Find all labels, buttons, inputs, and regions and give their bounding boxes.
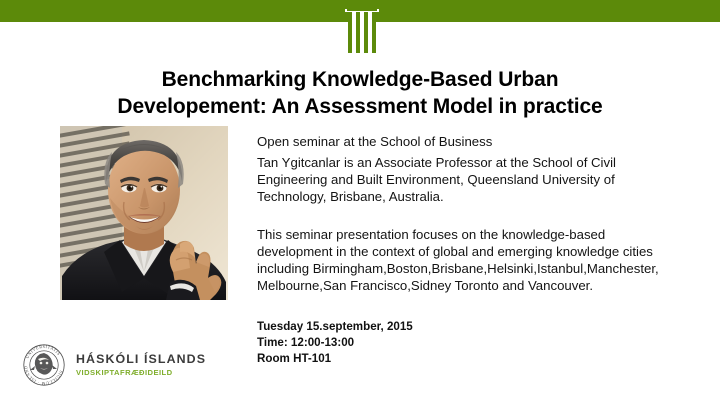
column-shaft-4 — [372, 12, 376, 53]
column-icon-right-edge — [376, 12, 379, 22]
speaker-portrait — [60, 126, 228, 300]
column-icon-shafts — [348, 12, 376, 53]
column-icon-abacus — [347, 9, 377, 11]
seminar-body-text: Open seminar at the School of Business T… — [257, 133, 669, 294]
university-department: VIDSKIPTAFRÆÐIDEILD — [76, 367, 226, 378]
university-name: HÁSKÓLI ÍSLANDS — [76, 352, 226, 367]
seminar-logistics: Tuesday 15.september, 2015 Time: 12:00-1… — [257, 319, 669, 367]
speaker-bio: Tan Ygitcanlar is an Associate Professor… — [257, 154, 669, 205]
paragraph-spacer — [257, 205, 669, 226]
column-shaft-2 — [356, 12, 360, 53]
seminar-time: Time: 12:00-13:00 — [257, 335, 669, 351]
column-shaft-1 — [348, 12, 352, 53]
university-logo-text: HÁSKÓLI ÍSLANDS VIDSKIPTAFRÆÐIDEILD — [76, 352, 226, 378]
poster-title: Benchmarking Knowledge-Based Urban Devel… — [28, 66, 692, 120]
poster-title-line-2: Developement: An Assessment Model in pra… — [28, 93, 692, 120]
seminar-abstract: This seminar presentation focuses on the… — [257, 226, 669, 294]
university-logo: UNIVERSITATIS SIGILLUM · ISLANDIAE · — [22, 341, 222, 389]
university-seal-icon: UNIVERSITATIS SIGILLUM · ISLANDIAE · — [22, 343, 66, 387]
seminar-poster-slide: Benchmarking Knowledge-Based Urban Devel… — [0, 0, 720, 405]
seminar-room: Room HT-101 — [257, 351, 669, 367]
seminar-lede: Open seminar at the School of Business — [257, 133, 669, 150]
column-shaft-3 — [364, 12, 368, 53]
seminar-date: Tuesday 15.september, 2015 — [257, 319, 669, 335]
classical-column-icon — [339, 0, 385, 53]
poster-title-line-1: Benchmarking Knowledge-Based Urban — [28, 66, 692, 93]
